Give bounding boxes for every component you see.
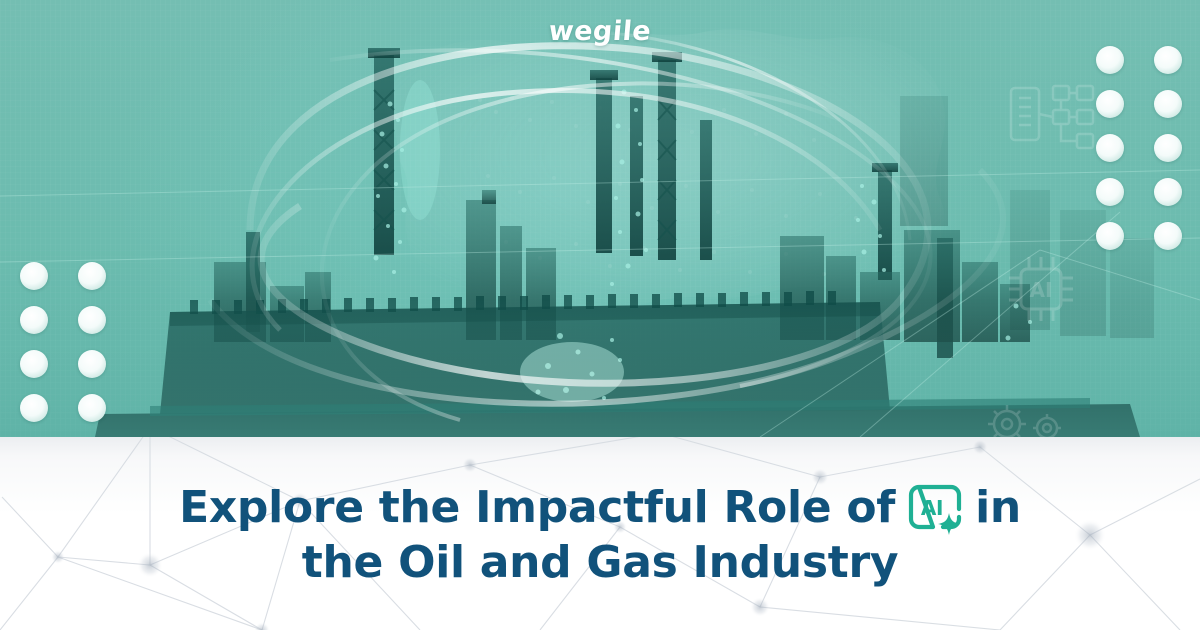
dot bbox=[1154, 46, 1182, 74]
dot bbox=[78, 350, 106, 378]
wegile-logo[interactable]: wegile bbox=[0, 16, 1200, 47]
banner-root: AI bbox=[0, 0, 1200, 630]
dot bbox=[1154, 222, 1182, 250]
dot bbox=[20, 306, 48, 334]
headline-line1-before: Explore the Impactful Role of bbox=[179, 483, 895, 532]
dot bbox=[1096, 222, 1124, 250]
dot bbox=[1096, 134, 1124, 162]
gear-cogs-icon bbox=[985, 398, 1075, 437]
svg-text:AI: AI bbox=[1030, 278, 1053, 302]
dot bbox=[1096, 46, 1124, 74]
headline-line-2: the Oil and Gas Industry bbox=[302, 538, 898, 587]
dot-grid-left bbox=[20, 262, 106, 437]
dot-grid-right bbox=[1096, 46, 1182, 250]
server-flowchart-icon bbox=[1005, 78, 1097, 158]
dot bbox=[20, 262, 48, 290]
hero-section: AI bbox=[0, 0, 1200, 437]
ai-badge-label: AI bbox=[921, 496, 943, 520]
ai-chip-icon: AI bbox=[1000, 250, 1082, 328]
headline-line-1: Explore the Impactful Role of AI in bbox=[179, 480, 1021, 536]
dot bbox=[1096, 178, 1124, 206]
dot bbox=[1096, 90, 1124, 118]
dot bbox=[20, 394, 48, 422]
dot bbox=[78, 394, 106, 422]
dot bbox=[78, 306, 106, 334]
dot bbox=[1154, 90, 1182, 118]
dot bbox=[1154, 134, 1182, 162]
dot bbox=[78, 262, 106, 290]
dot bbox=[1154, 178, 1182, 206]
dot bbox=[20, 350, 48, 378]
ai-chat-badge-icon: AI bbox=[907, 483, 963, 539]
headline-band: Explore the Impactful Role of AI in the … bbox=[0, 437, 1200, 630]
headline-line1-after: in bbox=[975, 483, 1021, 532]
refinery-photo-graphic bbox=[0, 0, 1200, 437]
headline-block: Explore the Impactful Role of AI in the … bbox=[0, 437, 1200, 630]
